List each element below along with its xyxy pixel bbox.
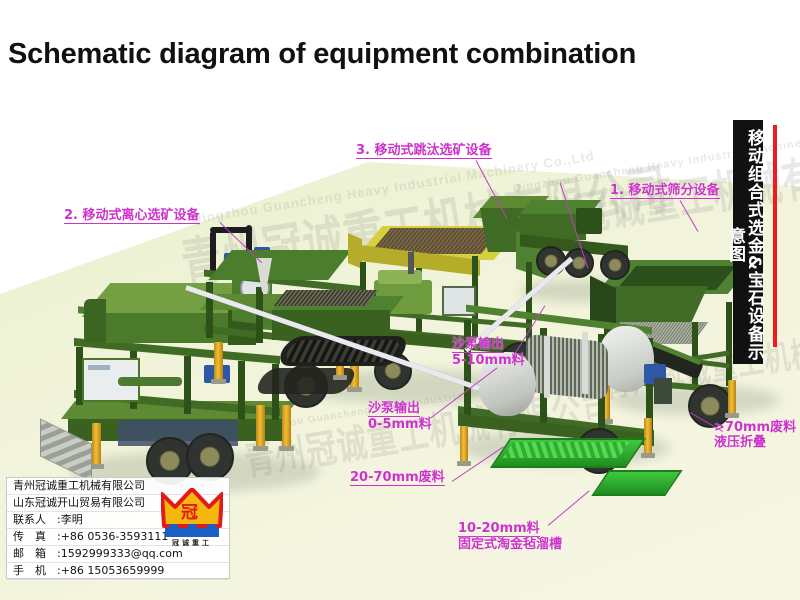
label-equipment-3-text: 3. 移动式跳汰选矿设备	[356, 143, 492, 159]
jig-engine-head	[378, 270, 422, 284]
label-waste-over-70: >70mm废料 液压折叠	[714, 420, 796, 451]
mobile-row: 手 机:+86 15053659999	[7, 563, 229, 580]
contact-card: 青州冠诚重工机械有限公司 山东冠诚开山贸易有限公司 联系人:李明 传 真:+86…	[6, 477, 230, 579]
label-equipment-2: 2. 移动式离心选矿设备	[64, 208, 200, 224]
trommel-post-1	[464, 320, 471, 424]
screen-post-3	[726, 302, 732, 386]
label-pump-0-5-line2: 0-5mm料	[368, 417, 432, 432]
machine-body-end	[84, 299, 106, 343]
logo-caption: 冠诚重工	[163, 538, 221, 548]
trommel-drum-ring-2	[582, 332, 588, 395]
label-equipment-3: 3. 移动式跳汰选矿设备	[356, 143, 492, 159]
jig-engine-stack	[408, 252, 414, 274]
deck-post-3	[184, 356, 191, 414]
page-title: Schematic diagram of equipment combinati…	[8, 38, 636, 71]
mobile-value: +86 15053659999	[61, 564, 165, 577]
label-pump-output-0-5: 沙泵输出 0-5mm料	[368, 401, 432, 433]
logo-foot-1	[169, 524, 178, 530]
vertical-banner: 移动组合式选金&宝石设备示意图	[733, 120, 763, 364]
label-waste-70-line1: >70mm废料	[714, 420, 796, 435]
truck-cab	[576, 208, 602, 234]
banner-accent-line	[773, 125, 777, 347]
company-logo: 冠 冠诚重工	[159, 484, 225, 548]
contact-person-value: 李明	[61, 513, 83, 526]
trommel-jack-1	[460, 426, 468, 462]
trommel-drum-ring-1	[544, 336, 550, 399]
equipment-trommel-plant	[448, 300, 688, 480]
schematic-canvas: 青州冠诚重工机械有限公司 Qingzhou Guancheng Heavy In…	[0, 0, 800, 600]
label-pump-5-10-line2: 5-10mm料	[452, 353, 525, 368]
gold-carpet-surface	[503, 442, 630, 458]
label-feed-10-20: 10-20mm料 固定式淘金毡溜槽	[458, 521, 562, 553]
label-equipment-2-text: 2. 移动式离心选矿设备	[64, 208, 200, 224]
label-pump-5-10-line1: 沙泵输出	[452, 337, 504, 353]
module-jack-1	[214, 342, 223, 380]
label-waste-70-line2: 液压折叠	[714, 435, 766, 450]
label-feed-10-20-line1: 10-20mm料	[458, 521, 540, 537]
mobile-label: 手 机	[13, 563, 57, 579]
email-row: 邮 箱:1592999333@qq.com	[7, 546, 229, 563]
wheel-rear-right	[186, 433, 234, 481]
logo-mark: 冠	[181, 498, 198, 523]
underdeck-pipe	[118, 377, 182, 386]
crawler-screen-mesh	[274, 290, 379, 306]
label-feed-10-20-line2: 固定式淘金毡溜槽	[458, 537, 562, 552]
label-equipment-1: 1. 移动式筛分设备	[610, 183, 720, 199]
trommel-drum-mesh	[526, 334, 608, 401]
control-cabinet-label	[88, 365, 110, 370]
label-waste-20-70-text: 20-70mm废料	[350, 470, 445, 486]
label-pump-output-5-10: 沙泵输出 5-10mm料	[452, 337, 525, 369]
fax-label: 传 真	[13, 529, 57, 545]
label-waste-20-70: 20-70mm废料	[350, 470, 445, 486]
trommel-jack-2	[644, 418, 652, 454]
contact-person-label: 联系人	[13, 512, 57, 528]
email-label: 邮 箱	[13, 546, 57, 562]
label-pump-0-5-line1: 沙泵输出	[368, 401, 420, 417]
trommel-gearbox	[654, 378, 672, 404]
module-post-1	[206, 282, 213, 338]
screen-jack-2	[728, 380, 736, 414]
truck-wheel-3	[600, 250, 630, 280]
logo-foot-2	[188, 524, 197, 530]
email-value: 1592999333@qq.com	[61, 547, 183, 560]
logo-foot-3	[207, 524, 216, 530]
jack-front-left	[92, 423, 101, 465]
fax-value: +86 0536-3593111	[61, 530, 169, 543]
label-equipment-1-text: 1. 移动式筛分设备	[610, 183, 720, 199]
